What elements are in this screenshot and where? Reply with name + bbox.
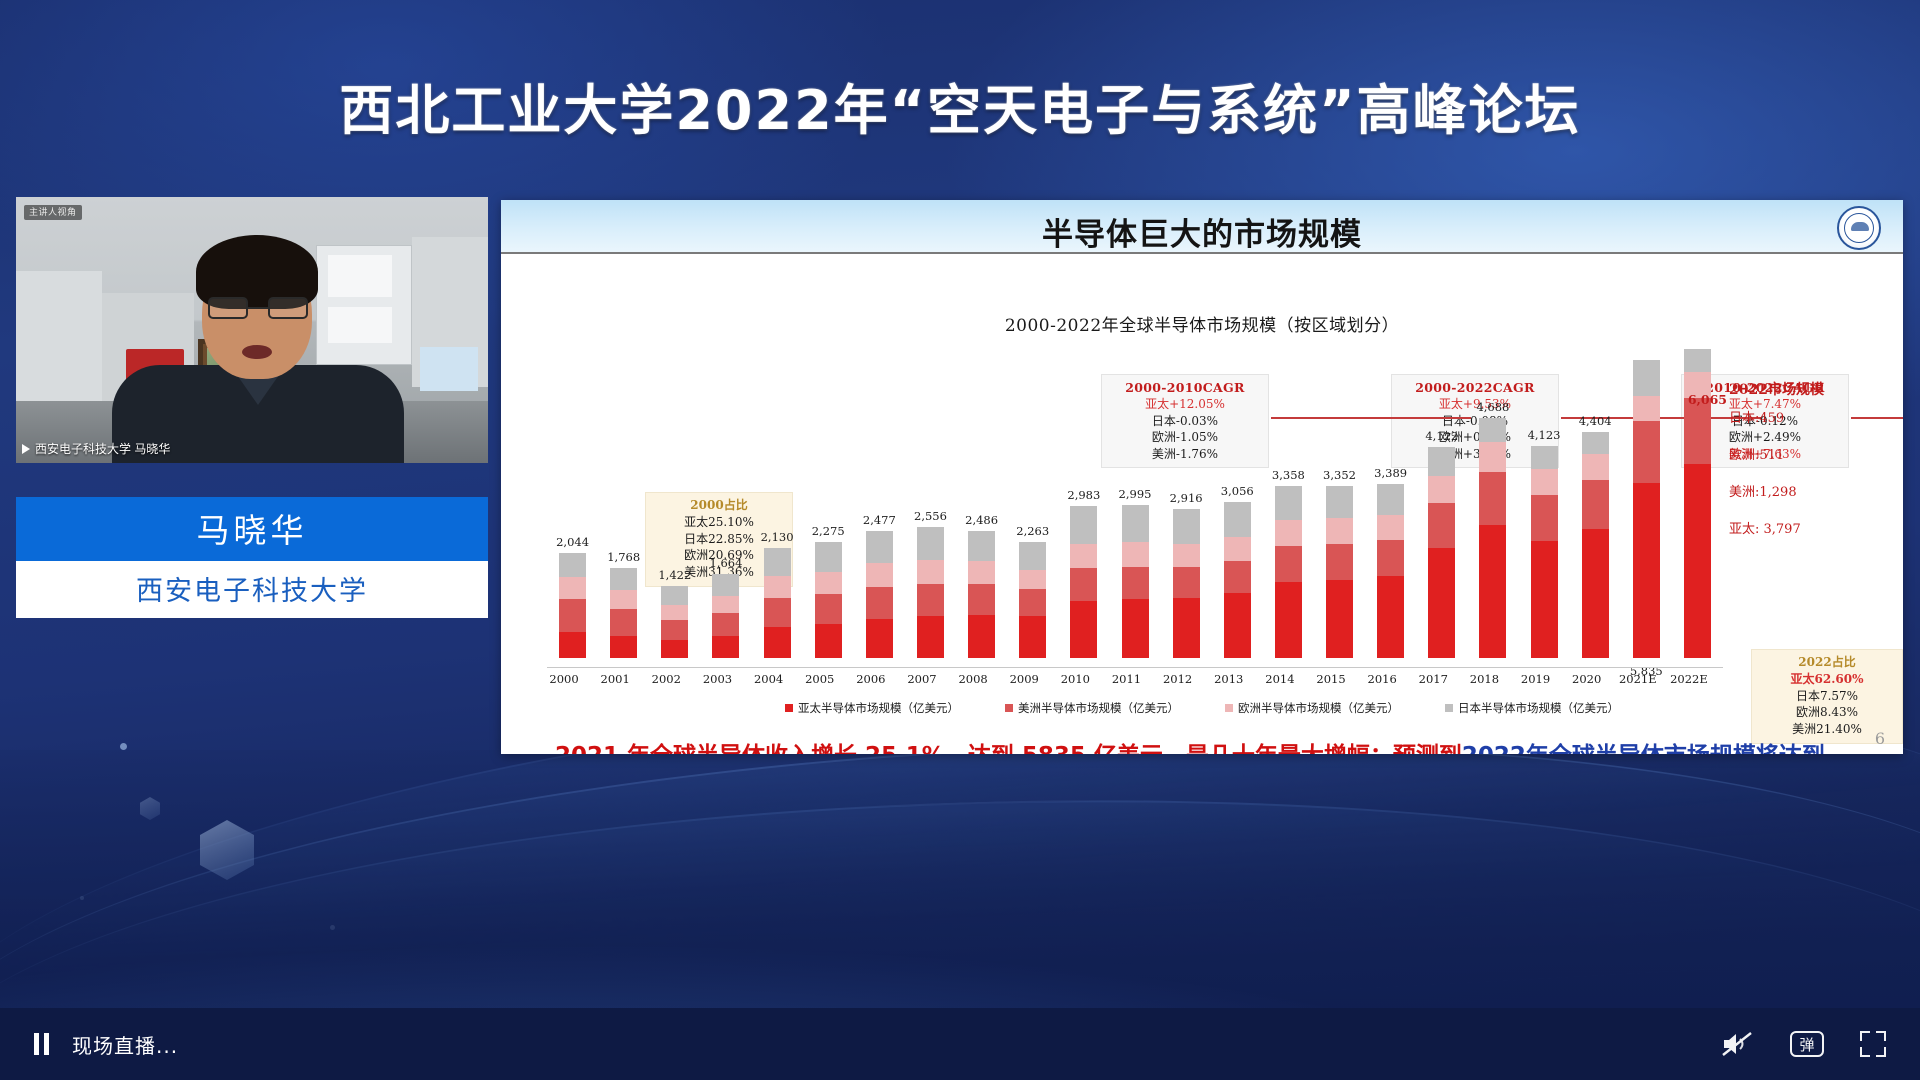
bar-column: 4,123 xyxy=(1531,428,1558,658)
bar-segment xyxy=(1275,520,1302,546)
bar-segment xyxy=(712,636,739,658)
bar-column: 2,983 xyxy=(1070,488,1097,658)
bar-stack xyxy=(712,574,739,658)
decorative-hexagon xyxy=(200,820,254,880)
bar-segment xyxy=(1684,464,1711,658)
bar-stack xyxy=(1122,505,1149,658)
x-tick-label: 2009 xyxy=(1002,672,1046,686)
bar-segment xyxy=(866,587,893,619)
bar-segment xyxy=(1275,582,1302,658)
x-tick-label: 2011 xyxy=(1105,672,1149,686)
bar-segment xyxy=(712,613,739,636)
bar-value-label: 3,056 xyxy=(1221,484,1254,498)
legend-label: 亚太半导体市场规模（亿美元） xyxy=(798,700,959,716)
bar-segment xyxy=(1224,561,1251,593)
bar-segment xyxy=(1582,480,1609,529)
bar-segment xyxy=(968,584,995,615)
bar-segment xyxy=(1531,446,1558,469)
bar-segment xyxy=(559,553,586,577)
bar-stack xyxy=(1173,509,1200,658)
bar-segment xyxy=(764,548,791,576)
bar-segment xyxy=(1479,442,1506,472)
bar-segment xyxy=(866,531,893,563)
bar-segment xyxy=(1531,469,1558,495)
bar-segment xyxy=(917,560,944,584)
bar-column: 2,263 xyxy=(1019,524,1046,658)
pause-icon[interactable] xyxy=(28,1031,54,1057)
bar-column: 3,056 xyxy=(1224,484,1251,658)
bar-segment xyxy=(917,527,944,560)
bar-value-label: 1,664 xyxy=(709,556,742,570)
x-axis-line xyxy=(547,667,1723,668)
background-object xyxy=(16,271,102,411)
bar-column: 1,768 xyxy=(610,550,637,658)
legend-item: 美洲半导体市场规模（亿美元） xyxy=(1005,700,1179,716)
bar-column: 4,688 xyxy=(1479,400,1506,658)
bar-segment xyxy=(764,598,791,627)
bar-segment xyxy=(1633,483,1660,658)
decorative-dot xyxy=(120,743,127,750)
bar-segment xyxy=(1377,576,1404,658)
fullscreen-icon[interactable] xyxy=(1860,1031,1886,1057)
slide-title: 半导体巨大的市场规模 xyxy=(501,209,1903,254)
bar-chart-plot: 2,0441,7681,4221,6642,1302,2752,4772,556… xyxy=(547,348,1723,658)
bar-segment xyxy=(1122,542,1149,567)
x-tick-label: 2017 xyxy=(1411,672,1455,686)
bar-stack xyxy=(1070,506,1097,658)
annotation-row: 日本:459 xyxy=(1729,412,1889,427)
annotation-row: 美洲:1,298 xyxy=(1729,486,1889,501)
x-tick-label: 2012 xyxy=(1156,672,1200,686)
annotation-header: 2022占比 xyxy=(1761,654,1893,671)
bar-segment xyxy=(968,531,995,561)
bar-stack xyxy=(1224,502,1251,658)
bar-value-label: 3,352 xyxy=(1323,468,1356,482)
bar-stack xyxy=(1531,446,1558,658)
bar-value-label: 2,983 xyxy=(1067,488,1100,502)
legend-item: 日本半导体市场规模（亿美元） xyxy=(1445,700,1619,716)
x-tick-label: 2014 xyxy=(1258,672,1302,686)
decorative-dot xyxy=(330,925,335,930)
x-tick-label: 2020 xyxy=(1565,672,1609,686)
bar-segment xyxy=(1684,398,1711,464)
legend-swatch xyxy=(1225,704,1233,712)
bar-segment xyxy=(1122,567,1149,599)
legend-item: 欧洲半导体市场规模（亿美元） xyxy=(1225,700,1399,716)
bar-segment xyxy=(1070,601,1097,658)
bar-segment xyxy=(610,609,637,636)
bar-segment xyxy=(1275,546,1302,582)
x-tick-label: 2013 xyxy=(1207,672,1251,686)
x-tick-label: 2005 xyxy=(798,672,842,686)
bar-segment xyxy=(1122,505,1149,542)
bar-value-label: 2,486 xyxy=(965,513,998,527)
slide-header: 半导体巨大的市场规模 xyxy=(501,200,1903,254)
bar-column: 1,664 xyxy=(712,556,739,658)
slide-conclusion-text: 2021 年全球半导体收入增长 25.1%，达到 5835 亿美元，是几十年最大… xyxy=(555,740,1849,754)
x-tick-label: 2007 xyxy=(900,672,944,686)
bar-segment xyxy=(1275,486,1302,520)
x-tick-label: 2018 xyxy=(1462,672,1506,686)
bar-stack xyxy=(917,527,944,658)
bar-segment xyxy=(1326,486,1353,518)
bar-stack xyxy=(764,548,791,658)
bar-segment xyxy=(1428,476,1455,503)
bar-segment xyxy=(1019,616,1046,658)
player-right-controls: 弹 xyxy=(1720,1030,1886,1058)
x-tick-label: 2000 xyxy=(542,672,586,686)
bar-segment xyxy=(1377,540,1404,576)
x-tick-label: 2010 xyxy=(1053,672,1097,686)
x-tick-label: 2006 xyxy=(849,672,893,686)
live-status-label: 现场直播... xyxy=(72,1030,178,1059)
legend-label: 日本半导体市场规模（亿美元） xyxy=(1458,700,1619,716)
event-title: 西北工业大学2022年“空天电子与系统”高峰论坛 xyxy=(0,66,1920,145)
bar-segment xyxy=(712,574,739,596)
bar-segment xyxy=(1479,472,1506,525)
bar-segment xyxy=(968,561,995,584)
video-caption: 西安电子科技大学 马晓华 xyxy=(22,440,170,457)
bar-segment xyxy=(661,605,688,620)
bar-segment xyxy=(1531,541,1558,658)
annotation-header: 2022市场规模 xyxy=(1729,382,1889,398)
bar-stack xyxy=(815,542,842,658)
university-seal-icon xyxy=(1837,206,1881,250)
play-icon xyxy=(22,444,30,454)
bar-stack xyxy=(661,586,688,658)
x-tick-label: 2015 xyxy=(1309,672,1353,686)
danmaku-label: 弹 xyxy=(1799,1034,1814,1055)
bar-value-label: 1,422 xyxy=(658,568,691,582)
bar-stack xyxy=(559,553,586,658)
bar-stack xyxy=(1428,447,1455,658)
bar-stack xyxy=(1479,418,1506,658)
bar-segment xyxy=(1531,495,1558,541)
bar-stack xyxy=(1582,432,1609,658)
bar-segment xyxy=(1224,537,1251,561)
bar-value-label: 2,263 xyxy=(1016,524,1049,538)
bar-value-label: 3,358 xyxy=(1272,468,1305,482)
bar-segment xyxy=(1173,567,1200,598)
bar-segment xyxy=(1224,502,1251,537)
background-object xyxy=(420,347,478,391)
bar-column: 2,556 xyxy=(917,509,944,658)
video-badge: 主讲人视角 xyxy=(24,205,82,220)
bar-value-label: 4,404 xyxy=(1579,414,1612,428)
annotation-row: 亚太: 3,797 xyxy=(1729,523,1889,538)
conclusion-line-1: 2021 年全球半导体收入增长 25.1%，达到 5835 亿美元，是几十年最大… xyxy=(555,743,1462,754)
bar-segment xyxy=(1070,544,1097,568)
slide-body: 2000-2022年全球半导体市场规模（按区域划分） 2000占比亚太25.10… xyxy=(501,254,1903,754)
bar-segment xyxy=(1633,421,1660,483)
bar-segment xyxy=(559,599,586,632)
speaker-affiliation: 西安电子科技大学 xyxy=(16,561,488,618)
x-tick-label: 2021E xyxy=(1616,672,1660,686)
bar-segment xyxy=(1173,598,1200,658)
bar-segment xyxy=(1582,432,1609,454)
bar-value-label: 2,556 xyxy=(914,509,947,523)
annotation-market-2022: 2022市场规模日本:459欧洲:511美洲:1,298亚太: 3,797 xyxy=(1729,382,1889,560)
bar-column: 3,358 xyxy=(1275,468,1302,658)
x-axis-ticks: 2000200120022003200420052006200720082009… xyxy=(547,672,1723,690)
bar-segment xyxy=(1070,568,1097,601)
bar-column: 2,916 xyxy=(1173,491,1200,658)
x-tick-label: 2016 xyxy=(1360,672,1404,686)
bar-column: 5,835 xyxy=(1633,356,1660,658)
legend-label: 欧洲半导体市场规模（亿美元） xyxy=(1238,700,1399,716)
bar-value-label: 2,275 xyxy=(812,524,845,538)
bar-segment xyxy=(1428,548,1455,658)
legend-swatch xyxy=(1445,704,1453,712)
decorative-hexagon xyxy=(140,797,160,820)
bar-column: 3,352 xyxy=(1326,468,1353,658)
bar-column: 2,130 xyxy=(764,530,791,658)
bar-column: 2,995 xyxy=(1122,487,1149,658)
glasses-icon xyxy=(208,297,308,319)
bar-segment xyxy=(1633,396,1660,421)
bar-segment xyxy=(1582,454,1609,480)
legend-label: 美洲半导体市场规模（亿美元） xyxy=(1018,700,1179,716)
bar-segment xyxy=(1428,503,1455,548)
x-tick-label: 2004 xyxy=(747,672,791,686)
bar-segment xyxy=(1173,509,1200,544)
x-tick-label: 2008 xyxy=(951,672,995,686)
bar-value-label: 2,477 xyxy=(863,513,896,527)
bar-stack xyxy=(1019,542,1046,658)
bar-column: 3,389 xyxy=(1377,466,1404,658)
video-caption-text: 西安电子科技大学 马晓华 xyxy=(35,440,170,457)
bar-segment xyxy=(1019,542,1046,570)
bar-column: 2,477 xyxy=(866,513,893,658)
x-tick-label: 2002 xyxy=(644,672,688,686)
bar-column: 4,122 xyxy=(1428,429,1455,658)
bar-segment xyxy=(1326,518,1353,544)
legend-item: 亚太半导体市场规模（亿美元） xyxy=(785,700,959,716)
annotation-row: 美洲21.40% xyxy=(1761,721,1893,738)
bar-segment xyxy=(917,584,944,616)
bar-segment xyxy=(661,586,688,605)
annotation-row: 亚太62.60% xyxy=(1761,671,1893,688)
bar-segment xyxy=(815,594,842,624)
bar-segment xyxy=(610,590,637,609)
bar-segment xyxy=(815,542,842,572)
bar-segment xyxy=(1684,349,1711,372)
bar-segment xyxy=(1019,570,1046,589)
bar-column: 1,422 xyxy=(661,568,688,658)
bar-column: 2,044 xyxy=(559,535,586,658)
speaker-name: 马晓华 xyxy=(16,497,488,561)
bar-segment xyxy=(917,616,944,658)
video-frame-content xyxy=(16,197,488,463)
bar-stack xyxy=(1377,484,1404,658)
player-control-bar: 现场直播... 弹 xyxy=(0,1008,1920,1080)
x-tick-label: 2003 xyxy=(695,672,739,686)
bar-segment xyxy=(1479,418,1506,442)
bar-value-label: 2,130 xyxy=(761,530,794,544)
bar-segment xyxy=(1326,580,1353,658)
bar-column: 2,486 xyxy=(968,513,995,658)
speaker-video[interactable]: 主讲人视角 西安电子科技大学 马晓华 xyxy=(16,197,488,463)
bar-segment xyxy=(1070,506,1097,544)
speaker-figure xyxy=(242,345,272,359)
bar-segment xyxy=(1224,593,1251,658)
x-tick-label: 2022E xyxy=(1667,672,1711,686)
annotation-row: 欧洲:511 xyxy=(1729,449,1889,464)
bar-value-label: 2,044 xyxy=(556,535,589,549)
chart-total-2022: 6,065 xyxy=(1688,392,1727,407)
bar-segment xyxy=(559,577,586,599)
danmaku-icon[interactable]: 弹 xyxy=(1790,1031,1824,1057)
bar-segment xyxy=(712,596,739,613)
bar-segment xyxy=(1122,599,1149,658)
background-object xyxy=(328,255,392,297)
bar-segment xyxy=(968,615,995,658)
bar-stack xyxy=(968,531,995,658)
mute-icon[interactable] xyxy=(1720,1030,1754,1058)
background-object xyxy=(328,307,392,343)
bar-segment xyxy=(661,640,688,658)
legend-swatch xyxy=(785,704,793,712)
bar-stack xyxy=(866,531,893,658)
bar-value-label: 3,389 xyxy=(1374,466,1407,480)
bar-value-label: 4,123 xyxy=(1528,428,1561,442)
bar-segment xyxy=(610,568,637,590)
bar-segment xyxy=(1479,525,1506,658)
bar-segment xyxy=(559,632,586,658)
bar-segment xyxy=(1173,544,1200,567)
bar-segment xyxy=(1019,589,1046,616)
bar-value-label: 4,122 xyxy=(1425,429,1458,443)
chart-legend: 亚太半导体市场规模（亿美元）美洲半导体市场规模（亿美元）欧洲半导体市场规模（亿美… xyxy=(501,700,1903,716)
bar-segment xyxy=(764,576,791,598)
bar-value-label: 2,916 xyxy=(1170,491,1203,505)
bar-segment xyxy=(815,624,842,658)
chart-subtitle: 2000-2022年全球半导体市场规模（按区域划分） xyxy=(501,311,1903,336)
decorative-dot xyxy=(80,896,84,900)
bar-stack xyxy=(1326,486,1353,658)
legend-swatch xyxy=(1005,704,1013,712)
bar-stack xyxy=(1633,360,1660,658)
bar-column: 4,404 xyxy=(1582,414,1609,658)
bar-segment xyxy=(1633,360,1660,396)
bar-segment xyxy=(866,619,893,658)
slide-page-number: 6 xyxy=(1875,729,1885,748)
bar-segment xyxy=(1428,447,1455,476)
bar-segment xyxy=(610,636,637,658)
x-tick-label: 2001 xyxy=(593,672,637,686)
bar-segment xyxy=(1377,515,1404,540)
bar-segment xyxy=(815,572,842,594)
bar-segment xyxy=(1377,484,1404,515)
x-tick-label: 2019 xyxy=(1514,672,1558,686)
bar-segment xyxy=(764,627,791,658)
bar-segment xyxy=(1326,544,1353,580)
bar-segment xyxy=(1582,529,1609,658)
bar-segment xyxy=(661,620,688,640)
bar-stack xyxy=(1275,486,1302,658)
bar-stack xyxy=(610,568,637,658)
speaker-card: 马晓华 西安电子科技大学 xyxy=(16,497,488,618)
bar-value-label: 4,688 xyxy=(1476,400,1509,414)
bar-value-label: 2,995 xyxy=(1119,487,1152,501)
bar-segment xyxy=(866,563,893,587)
presentation-slide[interactable]: 半导体巨大的市场规模 2000-2022年全球半导体市场规模（按区域划分） 20… xyxy=(501,200,1903,754)
bar-column: 2,275 xyxy=(815,524,842,658)
bar-value-label: 1,768 xyxy=(607,550,640,564)
